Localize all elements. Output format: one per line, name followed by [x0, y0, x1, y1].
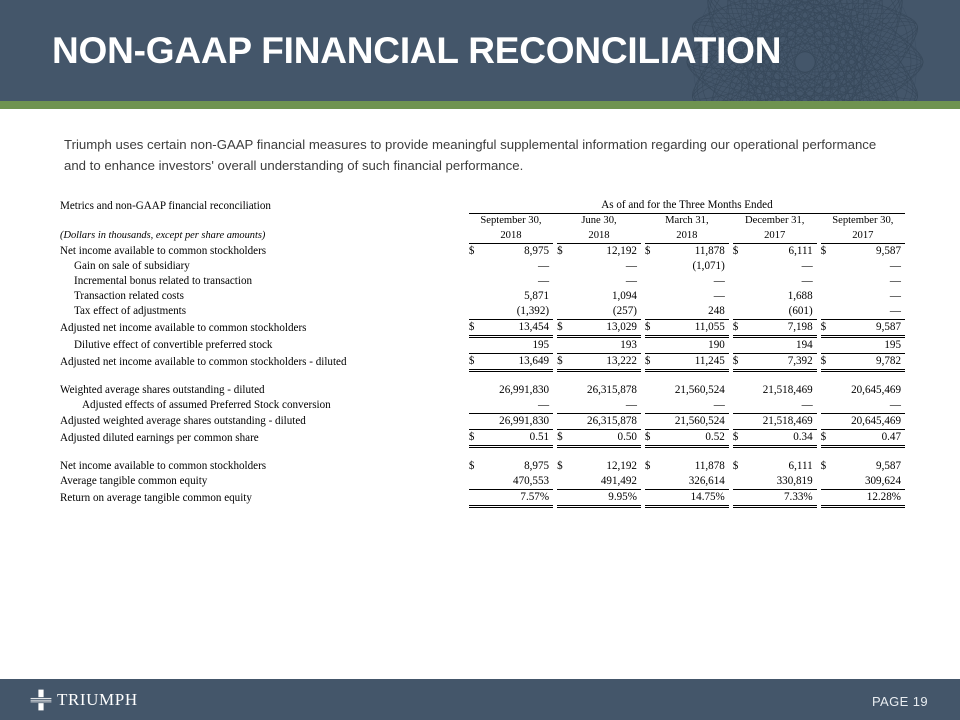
column-header-3-line1: March 31,: [645, 214, 729, 229]
row-currency-symbol: $: [821, 459, 833, 474]
table-row: Adjusted net income available to common …: [60, 353, 905, 370]
row-currency-symbol: [557, 474, 569, 490]
row-value: 11,055: [656, 319, 728, 336]
row-currency-symbol: $: [821, 319, 833, 336]
row-label: Weighted average shares outstanding - di…: [60, 383, 469, 398]
table-header-row-span: Metrics and non-GAAP financial reconcili…: [60, 198, 905, 214]
row-value: (257): [569, 304, 641, 320]
row-value: 20,645,469: [832, 413, 905, 429]
row-value: 0.34: [744, 429, 816, 446]
row-currency-symbol: [733, 413, 745, 429]
row-currency-symbol: $: [557, 353, 569, 370]
row-currency-symbol: [469, 304, 481, 320]
table-row: Weighted average shares outstanding - di…: [60, 383, 905, 398]
row-value: 9,587: [832, 319, 905, 336]
row-currency-symbol: [821, 489, 833, 506]
row-currency-symbol: [821, 398, 833, 414]
column-header-2-line2: 2018: [557, 228, 641, 243]
row-currency-symbol: [733, 304, 745, 320]
row-label: Transaction related costs: [60, 289, 469, 304]
accent-bar: [0, 101, 960, 109]
row-currency-symbol: $: [645, 429, 657, 446]
row-currency-symbol: $: [733, 459, 745, 474]
row-value: 6,111: [744, 243, 816, 259]
row-value: —: [832, 398, 905, 414]
row-currency-symbol: [469, 474, 481, 490]
row-value: 1,094: [569, 289, 641, 304]
table-row: Dilutive effect of convertible preferred…: [60, 336, 905, 353]
row-currency-symbol: [821, 289, 833, 304]
row-label: Net income available to common stockhold…: [60, 243, 469, 259]
row-value: 20,645,469: [832, 383, 905, 398]
spacer-cell: [60, 214, 469, 229]
row-currency-symbol: [821, 274, 833, 289]
reconciliation-table: Metrics and non-GAAP financial reconcili…: [60, 198, 905, 508]
row-value: 326,614: [656, 474, 728, 490]
row-currency-symbol: $: [821, 243, 833, 259]
row-currency-symbol: [733, 336, 745, 353]
row-value: 190: [656, 336, 728, 353]
row-value: 21,518,469: [744, 383, 816, 398]
row-currency-symbol: [821, 304, 833, 320]
intro-paragraph: Triumph uses certain non-GAAP financial …: [64, 134, 894, 177]
row-label: Net income available to common stockhold…: [60, 459, 469, 474]
column-header-4-line2: 2017: [733, 228, 817, 243]
table-row: Average tangible common equity470,553491…: [60, 474, 905, 490]
row-currency-symbol: [645, 336, 657, 353]
slide: NON-GAAP FINANCIAL RECONCILIATION Triump…: [0, 0, 960, 720]
row-currency-symbol: $: [469, 353, 481, 370]
table-row: Return on average tangible common equity…: [60, 489, 905, 506]
row-value: —: [832, 274, 905, 289]
row-currency-symbol: [733, 274, 745, 289]
row-value: —: [832, 259, 905, 274]
table-header-row-line1: September 30,June 30,March 31,December 3…: [60, 214, 905, 229]
row-value: 11,878: [656, 459, 728, 474]
row-value: 14.75%: [656, 489, 728, 506]
table-spacer-row: [60, 370, 905, 383]
row-value: (1,392): [480, 304, 553, 320]
row-value: 6,111: [744, 459, 816, 474]
row-value: —: [656, 289, 728, 304]
row-currency-symbol: [645, 489, 657, 506]
row-label: Dilutive effect of convertible preferred…: [60, 336, 469, 353]
triumph-cross-logo-icon: [30, 689, 52, 711]
table-row: Transaction related costs5,8711,094—1,68…: [60, 289, 905, 304]
row-currency-symbol: [733, 398, 745, 414]
row-currency-symbol: $: [469, 429, 481, 446]
row-value: 0.50: [569, 429, 641, 446]
row-currency-symbol: $: [645, 319, 657, 336]
row-currency-symbol: [469, 289, 481, 304]
row-value: —: [480, 259, 553, 274]
table-corner-label: Metrics and non-GAAP financial reconcili…: [60, 198, 469, 214]
reconciliation-table-wrap: Metrics and non-GAAP financial reconcili…: [60, 198, 905, 508]
row-value: —: [569, 398, 641, 414]
row-currency-symbol: [469, 383, 481, 398]
row-value: —: [656, 274, 728, 289]
row-value: (601): [744, 304, 816, 320]
row-currency-symbol: $: [733, 319, 745, 336]
row-value: —: [744, 259, 816, 274]
row-label: Adjusted effects of assumed Preferred St…: [60, 398, 469, 414]
row-label: Adjusted diluted earnings per common sha…: [60, 429, 469, 446]
row-value: 26,315,878: [569, 413, 641, 429]
row-value: 11,245: [656, 353, 728, 370]
row-currency-symbol: [821, 336, 833, 353]
row-currency-symbol: [469, 398, 481, 414]
row-currency-symbol: [557, 289, 569, 304]
row-currency-symbol: [557, 489, 569, 506]
row-currency-symbol: [821, 383, 833, 398]
row-value: 21,560,524: [656, 383, 728, 398]
row-currency-symbol: $: [821, 353, 833, 370]
row-value: 0.52: [656, 429, 728, 446]
row-value: 8,975: [480, 459, 553, 474]
row-currency-symbol: [557, 398, 569, 414]
row-label: Return on average tangible common equity: [60, 489, 469, 506]
row-currency-symbol: [469, 413, 481, 429]
column-header-2-line1: June 30,: [557, 214, 641, 229]
table-row: Net income available to common stockhold…: [60, 243, 905, 259]
row-value: —: [832, 304, 905, 320]
row-currency-symbol: $: [733, 429, 745, 446]
row-value: —: [656, 398, 728, 414]
row-value: 248: [656, 304, 728, 320]
row-currency-symbol: $: [557, 459, 569, 474]
row-currency-symbol: $: [469, 459, 481, 474]
row-currency-symbol: [469, 259, 481, 274]
table-row: Adjusted diluted earnings per common sha…: [60, 429, 905, 446]
row-currency-symbol: [733, 289, 745, 304]
row-currency-symbol: [557, 304, 569, 320]
row-currency-symbol: $: [733, 243, 745, 259]
row-value: —: [744, 274, 816, 289]
row-value: —: [569, 274, 641, 289]
row-value: —: [569, 259, 641, 274]
row-currency-symbol: [469, 489, 481, 506]
row-currency-symbol: $: [469, 243, 481, 259]
row-label: Tax effect of adjustments: [60, 304, 469, 320]
row-value: 26,991,830: [480, 383, 553, 398]
column-header-5-line1: September 30,: [821, 214, 905, 229]
table-row: Net income available to common stockhold…: [60, 459, 905, 474]
row-label: Adjusted net income available to common …: [60, 319, 469, 336]
row-currency-symbol: [821, 474, 833, 490]
column-header-1-line1: September 30,: [469, 214, 553, 229]
row-currency-symbol: $: [645, 353, 657, 370]
page-number: PAGE 19: [872, 694, 928, 709]
row-currency-symbol: $: [469, 319, 481, 336]
row-currency-symbol: $: [557, 319, 569, 336]
row-value: 9,587: [832, 459, 905, 474]
row-value: —: [744, 398, 816, 414]
row-currency-symbol: [645, 289, 657, 304]
slide-header: NON-GAAP FINANCIAL RECONCILIATION: [0, 0, 960, 101]
row-label: Gain on sale of subsidiary: [60, 259, 469, 274]
page-title: NON-GAAP FINANCIAL RECONCILIATION: [52, 30, 781, 72]
logo-wordmark: TRIUMPH: [57, 690, 138, 710]
table-header-row-line2: (Dollars in thousands, except per share …: [60, 228, 905, 243]
column-header-1-line2: 2018: [469, 228, 553, 243]
row-value: 11,878: [656, 243, 728, 259]
column-header-5-line2: 2017: [821, 228, 905, 243]
row-currency-symbol: [557, 274, 569, 289]
row-currency-symbol: $: [557, 243, 569, 259]
row-currency-symbol: $: [557, 429, 569, 446]
row-value: 330,819: [744, 474, 816, 490]
row-currency-symbol: [645, 413, 657, 429]
row-value: 5,871: [480, 289, 553, 304]
row-value: 0.47: [832, 429, 905, 446]
row-value: 9,587: [832, 243, 905, 259]
row-value: —: [480, 274, 553, 289]
brand-logo: TRIUMPH: [30, 689, 138, 711]
slide-footer: [0, 679, 960, 720]
row-label: Average tangible common equity: [60, 474, 469, 490]
row-value: 9.95%: [569, 489, 641, 506]
row-currency-symbol: [557, 336, 569, 353]
row-label: Incremental bonus related to transaction: [60, 274, 469, 289]
row-label: Adjusted weighted average shares outstan…: [60, 413, 469, 429]
row-value: 7,392: [744, 353, 816, 370]
row-value: 195: [480, 336, 553, 353]
column-header-3-line2: 2018: [645, 228, 729, 243]
row-value: 12,192: [569, 459, 641, 474]
row-currency-symbol: [557, 259, 569, 274]
row-value: 12.28%: [832, 489, 905, 506]
row-value: 13,454: [480, 319, 553, 336]
row-value: 12,192: [569, 243, 641, 259]
table-row: Tax effect of adjustments(1,392)(257)248…: [60, 304, 905, 320]
row-value: 13,649: [480, 353, 553, 370]
row-value: (1,071): [656, 259, 728, 274]
units-note: (Dollars in thousands, except per share …: [60, 228, 469, 243]
row-currency-symbol: [821, 413, 833, 429]
row-value: —: [480, 398, 553, 414]
table-row: Gain on sale of subsidiary——(1,071)——: [60, 259, 905, 274]
table-row: Adjusted net income available to common …: [60, 319, 905, 336]
span-header: As of and for the Three Months Ended: [469, 198, 905, 214]
row-currency-symbol: [645, 259, 657, 274]
row-currency-symbol: [645, 398, 657, 414]
row-currency-symbol: [733, 489, 745, 506]
table-row: Adjusted effects of assumed Preferred St…: [60, 398, 905, 414]
row-value: 470,553: [480, 474, 553, 490]
spacer-cell: [60, 446, 905, 459]
row-value: 193: [569, 336, 641, 353]
row-currency-symbol: [733, 259, 745, 274]
row-value: 0.51: [480, 429, 553, 446]
row-value: 491,492: [569, 474, 641, 490]
row-currency-symbol: $: [821, 429, 833, 446]
row-value: 9,782: [832, 353, 905, 370]
table-row: Incremental bonus related to transaction…: [60, 274, 905, 289]
row-value: —: [832, 289, 905, 304]
row-currency-symbol: [469, 274, 481, 289]
table-row: Adjusted weighted average shares outstan…: [60, 413, 905, 429]
row-currency-symbol: $: [645, 459, 657, 474]
row-value: 7.33%: [744, 489, 816, 506]
row-value: 194: [744, 336, 816, 353]
row-value: 195: [832, 336, 905, 353]
row-value: 7.57%: [480, 489, 553, 506]
row-value: 13,222: [569, 353, 641, 370]
row-currency-symbol: [733, 474, 745, 490]
column-header-4-line1: December 31,: [733, 214, 817, 229]
row-currency-symbol: [557, 383, 569, 398]
row-value: 8,975: [480, 243, 553, 259]
row-value: 26,315,878: [569, 383, 641, 398]
row-label: Adjusted net income available to common …: [60, 353, 469, 370]
row-currency-symbol: [645, 383, 657, 398]
row-currency-symbol: [557, 413, 569, 429]
row-value: 13,029: [569, 319, 641, 336]
row-currency-symbol: [469, 336, 481, 353]
row-currency-symbol: [821, 259, 833, 274]
row-value: 21,560,524: [656, 413, 728, 429]
row-currency-symbol: $: [733, 353, 745, 370]
row-value: 21,518,469: [744, 413, 816, 429]
row-value: 309,624: [832, 474, 905, 490]
row-value: 7,198: [744, 319, 816, 336]
row-currency-symbol: [645, 474, 657, 490]
row-currency-symbol: [645, 274, 657, 289]
spacer-cell: [60, 370, 905, 383]
row-currency-symbol: [645, 304, 657, 320]
row-currency-symbol: $: [645, 243, 657, 259]
row-currency-symbol: [733, 383, 745, 398]
row-value: 26,991,830: [480, 413, 553, 429]
row-value: 1,688: [744, 289, 816, 304]
table-spacer-row: [60, 446, 905, 459]
